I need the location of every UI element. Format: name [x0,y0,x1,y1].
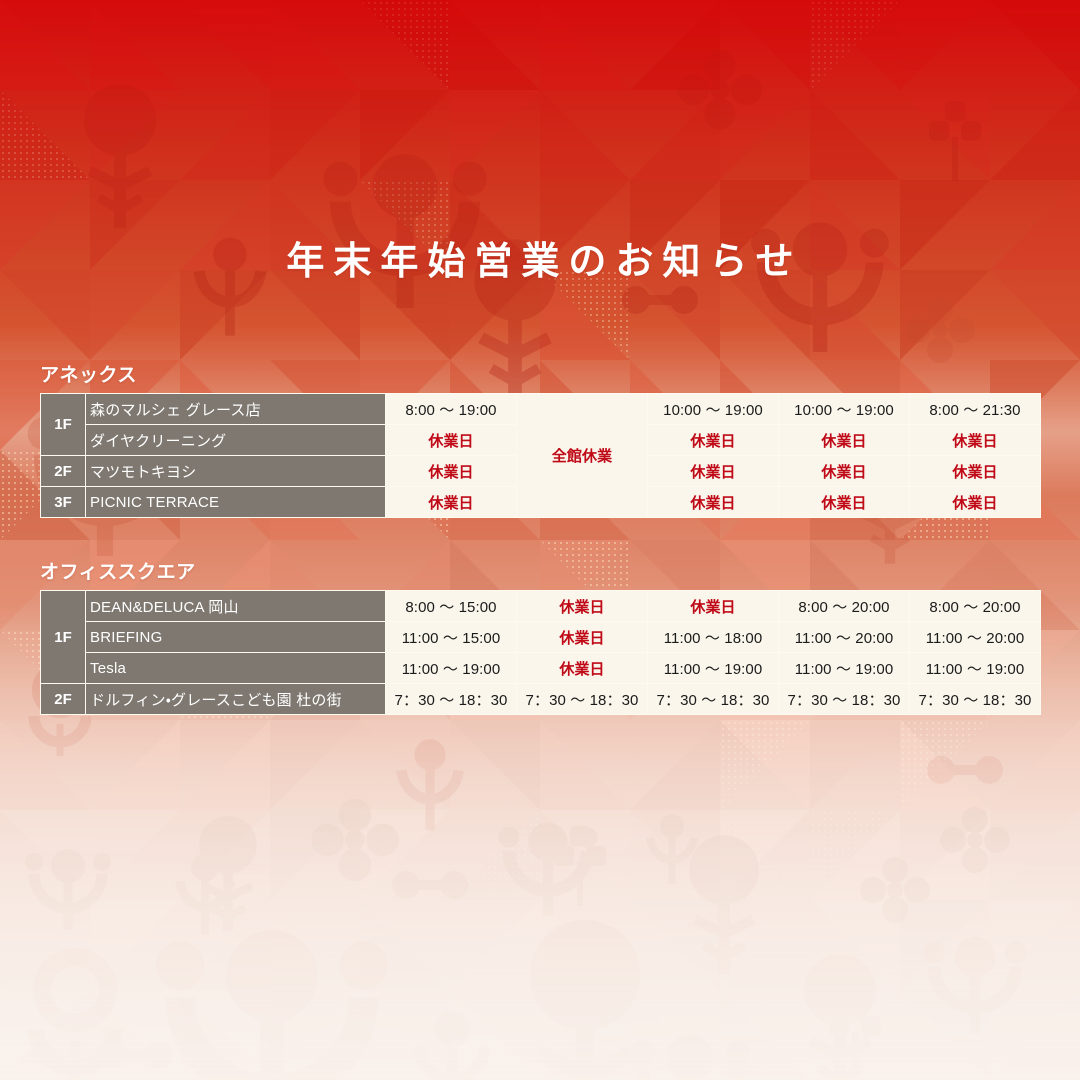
closed-day-cell: 休業日 [648,456,779,487]
shop-name: Tesla [86,653,386,684]
all-closed-cell: 全館休業 [517,394,648,518]
hours-cell: 11:00 ～ 20:00 [910,622,1041,653]
hours-cell: 11:00 ～ 19:00 [779,653,910,684]
closed-day-cell: 休業日 [910,456,1041,487]
closed-day-cell: 休業日 [779,425,910,456]
hours-cell: 8:00 ～ 15:00 [386,591,517,622]
closed-day-cell: 休業日 [910,487,1041,518]
hours-table-annex: 1F森のマルシェ グレース店8:00 ～ 19:00全館休業10:00 ～ 19… [40,393,1041,518]
shop-name: ダイヤクリーニング [86,425,386,456]
hours-cell: 8:00 ～ 21:30 [910,394,1041,425]
section-label-annex: アネックス [40,360,1040,387]
hours-table-office-square: 1FDEAN&DELUCA 岡山8:00 ～ 15:00休業日休業日8:00 ～… [40,590,1041,715]
hours-cell: 10:00 ～ 19:00 [648,394,779,425]
closed-day-cell: 休業日 [386,456,517,487]
hours-cell: 11:00 ～ 20:00 [779,622,910,653]
section-label-office-square: オフィススクエア [40,557,1040,584]
hours-cell: 7：30 ～ 18：30 [648,684,779,715]
hours-cell: 7：30 ～ 18：30 [910,684,1041,715]
hours-cell: 11:00 ～ 18:00 [648,622,779,653]
table-row: 1FDEAN&DELUCA 岡山8:00 ～ 15:00休業日休業日8:00 ～… [41,591,1041,622]
hours-cell: 8:00 ～ 20:00 [779,591,910,622]
table-row: 1F森のマルシェ グレース店8:00 ～ 19:00全館休業10:00 ～ 19… [41,394,1041,425]
section-office-square: オフィススクエア 1FDEAN&DELUCA 岡山8:00 ～ 15:00休業日… [40,557,1040,715]
closed-day-cell: 休業日 [910,425,1041,456]
hours-cell: 11:00 ～ 15:00 [386,622,517,653]
closed-day-cell: 休業日 [386,425,517,456]
closed-day-cell: 休業日 [648,487,779,518]
hours-cell: 11:00 ～ 19:00 [910,653,1041,684]
table-row: Tesla11:00 ～ 19:00休業日11:00 ～ 19:0011:00 … [41,653,1041,684]
hours-cell: 11:00 ～ 19:00 [648,653,779,684]
closed-day-cell: 休業日 [779,456,910,487]
closed-day-cell: 休業日 [648,591,779,622]
shop-name: マツモトキヨシ [86,456,386,487]
shop-name: 森のマルシェ グレース店 [86,394,386,425]
closed-day-cell: 休業日 [648,425,779,456]
floor-label: 2F [41,456,86,487]
shop-name: BRIEFING [86,622,386,653]
closed-day-cell: 休業日 [386,487,517,518]
poster-content: 年末年始営業のお知らせ アネックス 1F森のマルシェ グレース店8:00 ～ 1… [0,0,1080,1080]
closed-day-cell: 休業日 [517,591,648,622]
closed-day-cell: 休業日 [779,487,910,518]
floor-label: 2F [41,684,86,715]
hours-cell: 11:00 ～ 19:00 [386,653,517,684]
hours-cell: 7：30 ～ 18：30 [517,684,648,715]
table-row: BRIEFING11:00 ～ 15:00休業日11:00 ～ 18:0011:… [41,622,1041,653]
hours-cell: 8:00 ～ 20:00 [910,591,1041,622]
hours-cell: 7：30 ～ 18：30 [386,684,517,715]
floor-label: 1F [41,591,86,684]
floor-label: 3F [41,487,86,518]
shop-name: ドルフィン・グレースこども園 杜の街 [86,684,386,715]
floor-label: 1F [41,394,86,456]
closed-day-cell: 休業日 [517,622,648,653]
hours-cell: 10:00 ～ 19:00 [779,394,910,425]
closed-day-cell: 休業日 [517,653,648,684]
table-row: 2Fドルフィン・グレースこども園 杜の街7：30 ～ 18：307：30 ～ 1… [41,684,1041,715]
hours-cell: 7：30 ～ 18：30 [779,684,910,715]
section-annex: アネックス 1F森のマルシェ グレース店8:00 ～ 19:00全館休業10:0… [40,360,1040,518]
poster-canvas: 年末年始営業のお知らせ アネックス 1F森のマルシェ グレース店8:00 ～ 1… [0,0,1080,1080]
hours-cell: 8:00 ～ 19:00 [386,394,517,425]
shop-name: DEAN&DELUCA 岡山 [86,591,386,622]
page-title: 年末年始営業のお知らせ [0,240,1080,286]
shop-name: PICNIC TERRACE [86,487,386,518]
